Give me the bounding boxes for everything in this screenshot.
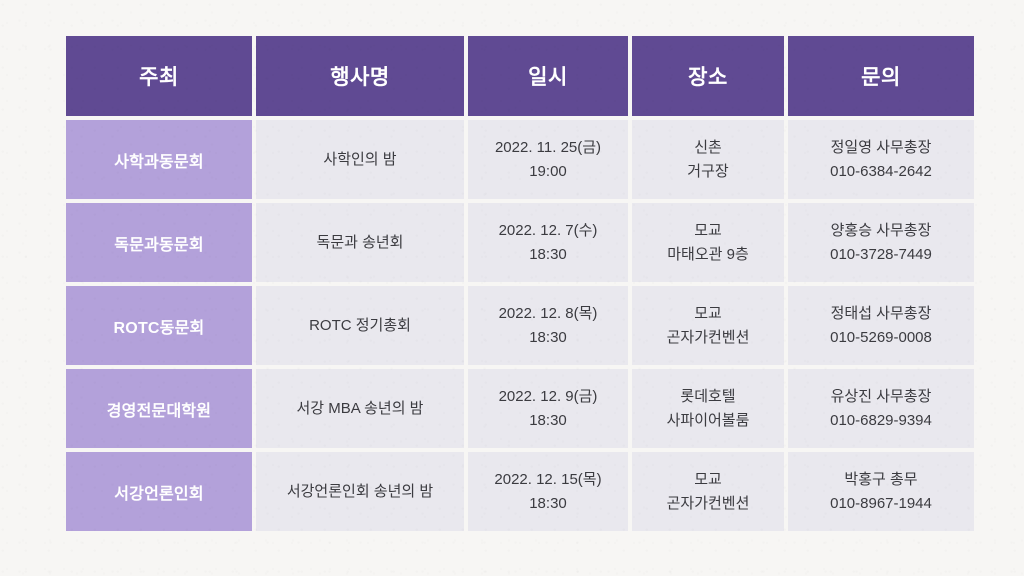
cell-place: 롯데호텔 사파이어볼룸: [632, 369, 784, 448]
column-header-contact: 문의: [788, 36, 974, 116]
cell-host: ROTC동문회: [66, 286, 252, 365]
cell-contact: 유상진 사무총장 010-6829-9394: [788, 369, 974, 448]
cell-event: 서강 MBA 송년의 밤: [256, 369, 464, 448]
cell-contact-name: 정일영 사무총장: [788, 136, 974, 159]
table-header-row: 주최 행사명 일시 장소 문의: [66, 36, 974, 116]
cell-contact-phone: 010-8967-1944: [788, 492, 974, 515]
cell-contact-phone: 010-6829-9394: [788, 409, 974, 432]
cell-place: 모교 곤자가컨벤션: [632, 286, 784, 365]
cell-date-line2: 19:00: [468, 160, 628, 183]
table-row: 경영전문대학원 서강 MBA 송년의 밤 2022. 12. 9(금) 18:3…: [66, 369, 974, 448]
cell-contact-phone: 010-6384-2642: [788, 160, 974, 183]
cell-place-line1: 신촌: [632, 136, 784, 159]
cell-date-line1: 2022. 12. 7(수): [468, 219, 628, 242]
cell-host: 서강언론인회: [66, 452, 252, 531]
cell-date-line1: 2022. 12. 15(목): [468, 468, 628, 491]
cell-date-line2: 18:30: [468, 492, 628, 515]
cell-date: 2022. 12. 8(목) 18:30: [468, 286, 628, 365]
cell-place: 신촌 거구장: [632, 120, 784, 199]
cell-event: 독문과 송년회: [256, 203, 464, 282]
cell-host: 독문과동문회: [66, 203, 252, 282]
cell-place: 모교 마태오관 9층: [632, 203, 784, 282]
cell-contact: 정태섭 사무총장 010-5269-0008: [788, 286, 974, 365]
cell-date: 2022. 11. 25(금) 19:00: [468, 120, 628, 199]
event-schedule-table: 주최 행사명 일시 장소 문의 사학과동문회 사학인의 밤 2022. 11. …: [62, 32, 978, 535]
table-row: 사학과동문회 사학인의 밤 2022. 11. 25(금) 19:00 신촌 거…: [66, 120, 974, 199]
cell-place-line1: 모교: [632, 468, 784, 491]
cell-host: 사학과동문회: [66, 120, 252, 199]
cell-contact-name: 유상진 사무총장: [788, 385, 974, 408]
cell-place-line2: 곤자가컨벤션: [632, 326, 784, 349]
cell-place: 모교 곤자가컨벤션: [632, 452, 784, 531]
cell-date-line1: 2022. 12. 9(금): [468, 385, 628, 408]
cell-contact-name: 정태섭 사무총장: [788, 302, 974, 325]
column-header-host: 주최: [66, 36, 252, 116]
cell-contact-name: 양홍승 사무총장: [788, 219, 974, 242]
cell-contact: 정일영 사무총장 010-6384-2642: [788, 120, 974, 199]
table-row: ROTC동문회 ROTC 정기총회 2022. 12. 8(목) 18:30 모…: [66, 286, 974, 365]
cell-date: 2022. 12. 9(금) 18:30: [468, 369, 628, 448]
table-row: 서강언론인회 서강언론인회 송년의 밤 2022. 12. 15(목) 18:3…: [66, 452, 974, 531]
cell-date: 2022. 12. 7(수) 18:30: [468, 203, 628, 282]
cell-contact-phone: 010-5269-0008: [788, 326, 974, 349]
cell-date-line2: 18:30: [468, 243, 628, 266]
cell-date-line1: 2022. 12. 8(목): [468, 302, 628, 325]
cell-event: 서강언론인회 송년의 밤: [256, 452, 464, 531]
cell-place-line2: 거구장: [632, 160, 784, 183]
cell-place-line1: 모교: [632, 219, 784, 242]
cell-event: 사학인의 밤: [256, 120, 464, 199]
table-body: 사학과동문회 사학인의 밤 2022. 11. 25(금) 19:00 신촌 거…: [66, 120, 974, 531]
cell-place-line2: 사파이어볼룸: [632, 409, 784, 432]
cell-place-line1: 롯데호텔: [632, 385, 784, 408]
cell-place-line2: 마태오관 9층: [632, 243, 784, 266]
cell-date-line1: 2022. 11. 25(금): [468, 136, 628, 159]
cell-contact: 양홍승 사무총장 010-3728-7449: [788, 203, 974, 282]
cell-date: 2022. 12. 15(목) 18:30: [468, 452, 628, 531]
cell-event: ROTC 정기총회: [256, 286, 464, 365]
cell-date-line2: 18:30: [468, 326, 628, 349]
table-row: 독문과동문회 독문과 송년회 2022. 12. 7(수) 18:30 모교 마…: [66, 203, 974, 282]
cell-contact: 박홍구 총무 010-8967-1944: [788, 452, 974, 531]
column-header-date: 일시: [468, 36, 628, 116]
cell-date-line2: 18:30: [468, 409, 628, 432]
cell-host: 경영전문대학원: [66, 369, 252, 448]
cell-contact-phone: 010-3728-7449: [788, 243, 974, 266]
column-header-event: 행사명: [256, 36, 464, 116]
column-header-place: 장소: [632, 36, 784, 116]
cell-place-line2: 곤자가컨벤션: [632, 492, 784, 515]
table-header: 주최 행사명 일시 장소 문의: [66, 36, 974, 116]
cell-contact-name: 박홍구 총무: [788, 468, 974, 491]
cell-place-line1: 모교: [632, 302, 784, 325]
